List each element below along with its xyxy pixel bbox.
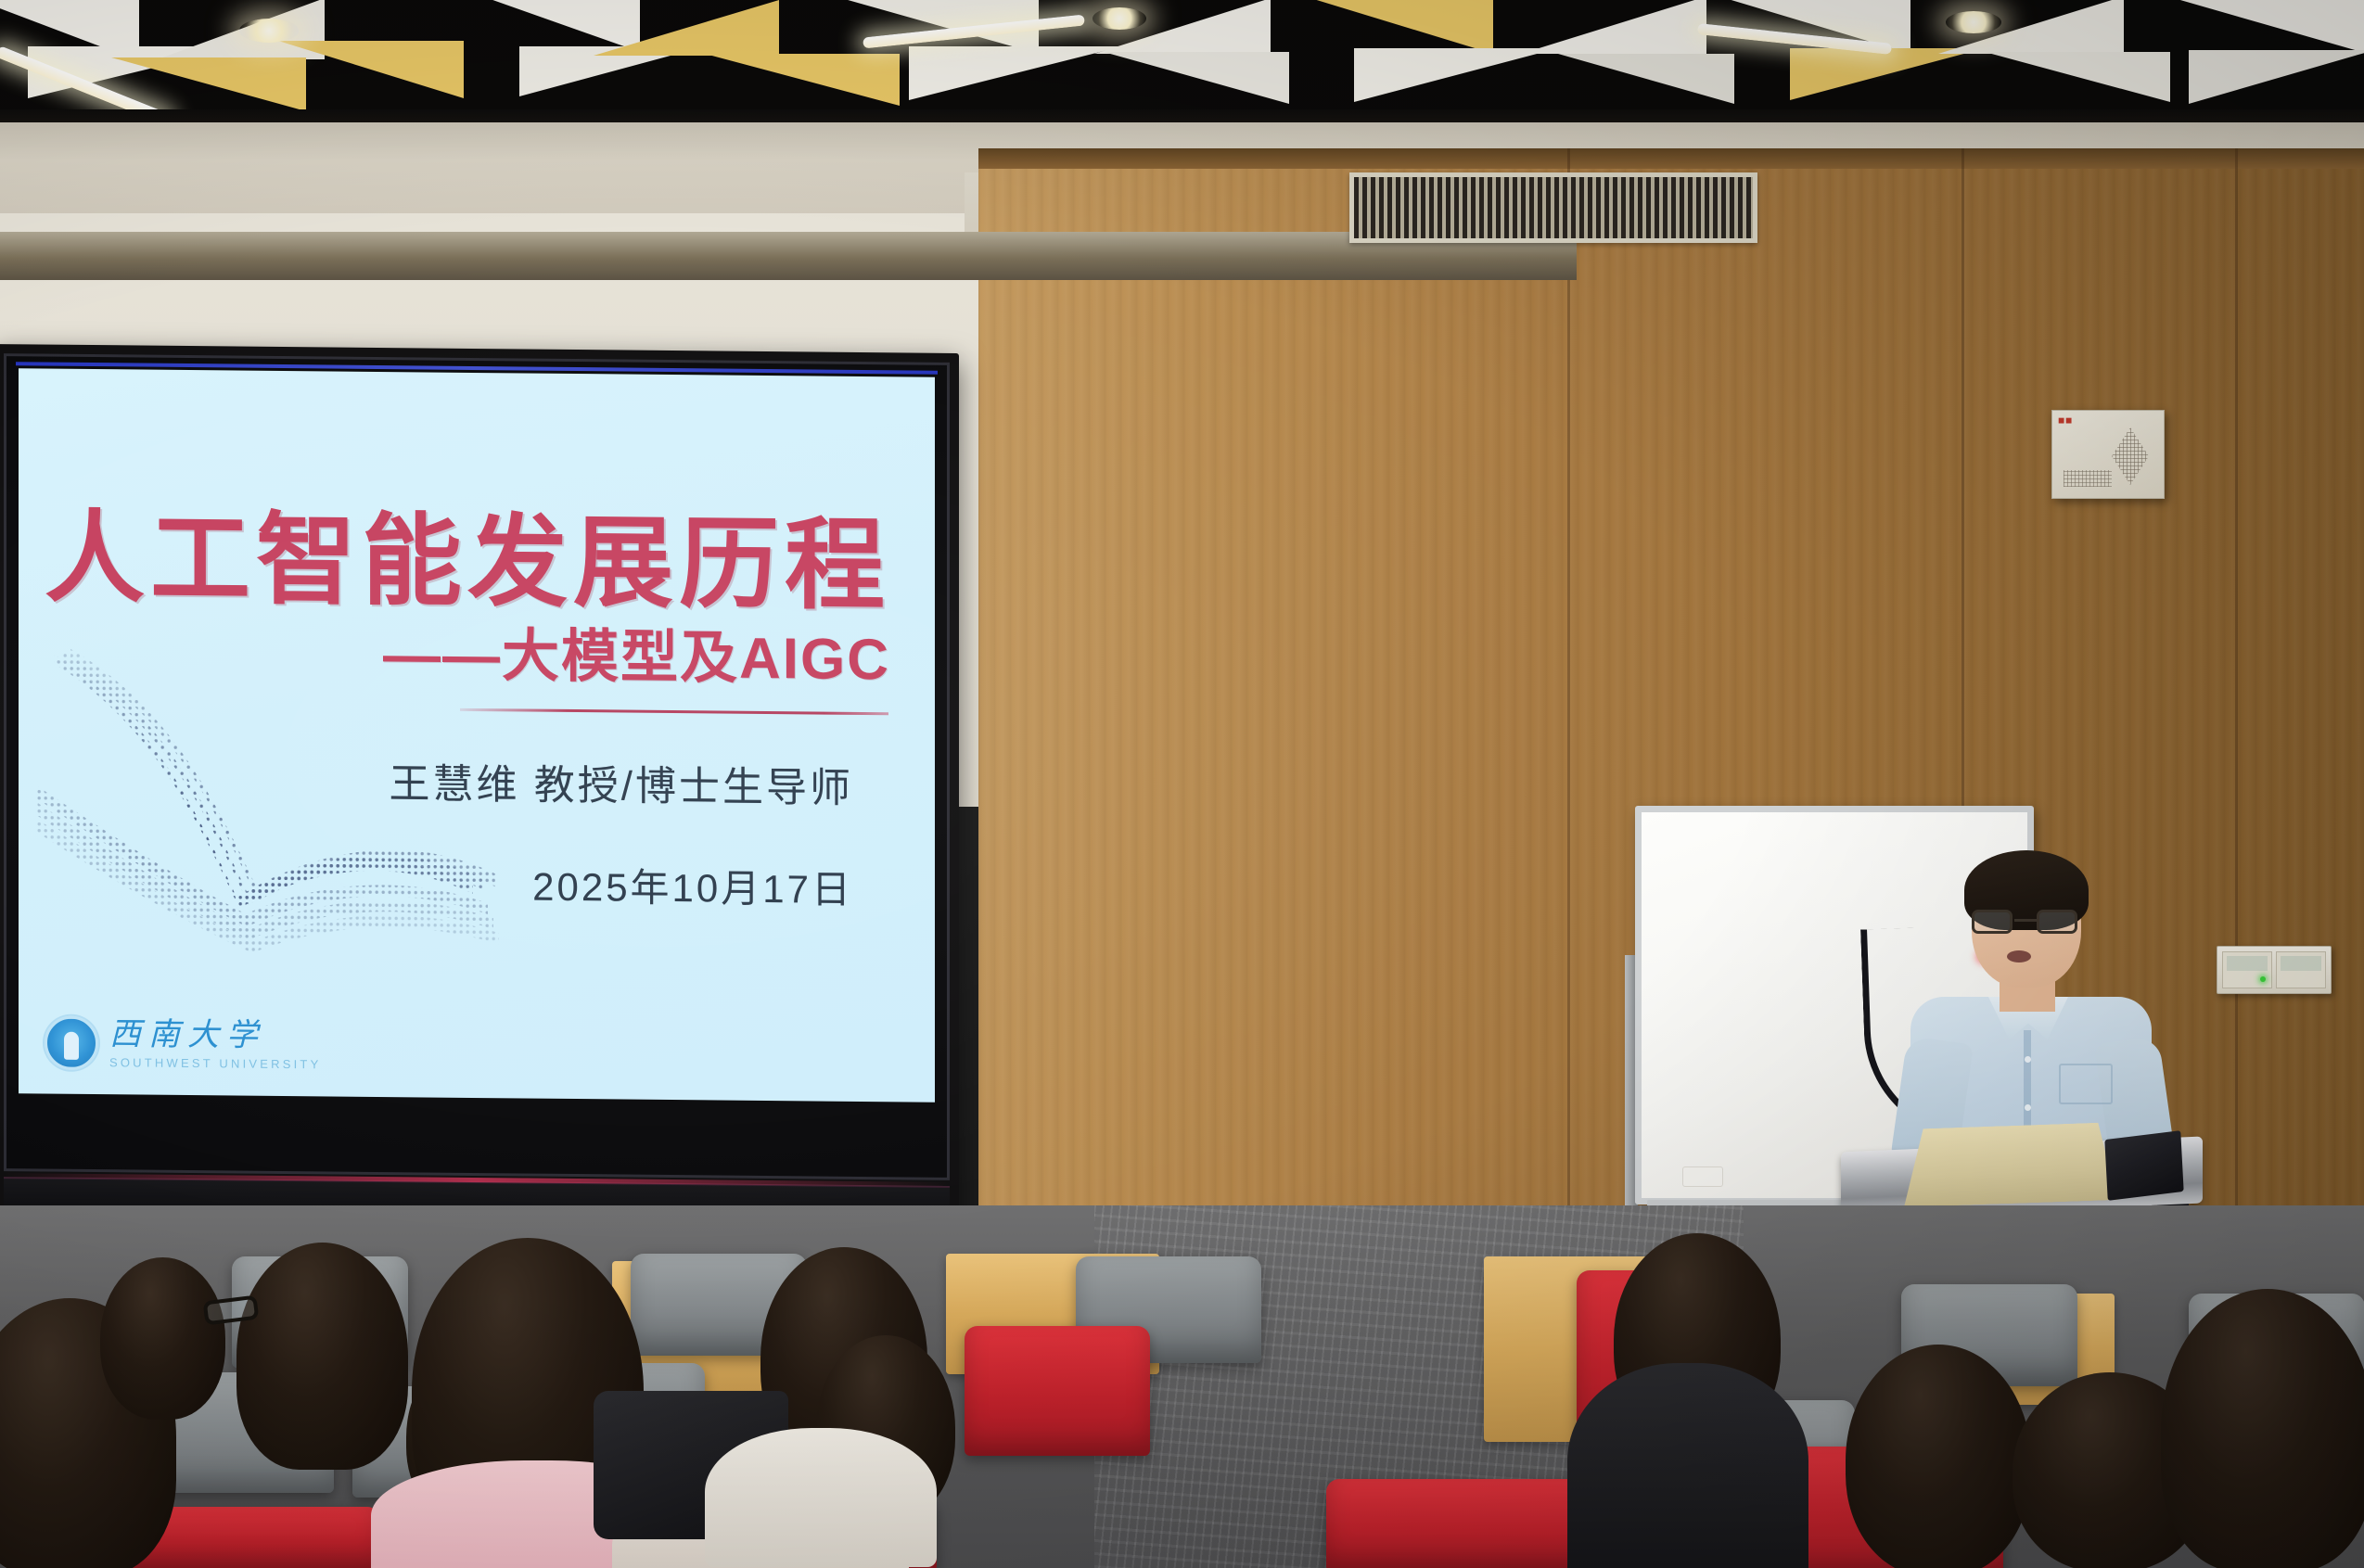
ceiling-soffit xyxy=(0,232,1577,280)
av-control-button[interactable] xyxy=(2222,951,2272,988)
ceiling-triangle-panel xyxy=(2161,0,2364,56)
audience-seat[interactable] xyxy=(965,1326,1150,1456)
ceiling-triangle-panel xyxy=(1790,48,1985,100)
presentation-display: 人工智能发展历程 ——大模型及AIGC 王慧维 教授/博士生导师 2025年10… xyxy=(0,344,959,1253)
wood-wall-seam xyxy=(2235,148,2238,1261)
ceiling-panel-grid xyxy=(0,0,2364,122)
presenter-shirt-button xyxy=(2025,1104,2031,1111)
hvac-vent-grille xyxy=(1354,177,1753,238)
audience-seat[interactable] xyxy=(1326,1479,1595,1568)
podium-desk-panel xyxy=(1904,1122,2117,1207)
wall-speaker-grille xyxy=(2112,427,2149,485)
ceiling-triangle-panel xyxy=(594,0,779,56)
presenter-shirt-button xyxy=(2025,1056,2031,1063)
ceiling-downlight xyxy=(1946,11,2001,33)
slide-subtitle: ——大模型及AIGC xyxy=(19,620,890,692)
ceiling-triangle-panel xyxy=(1354,48,1558,102)
ceiling-downlight xyxy=(239,19,299,43)
hvac-vent xyxy=(1349,172,1757,243)
slide-date: 2025年10月17日 xyxy=(19,850,853,915)
audience-person-shoulders xyxy=(1567,1363,1808,1568)
audience-person-shoulders xyxy=(705,1428,937,1567)
ceiling-triangle-panel xyxy=(705,54,900,106)
ceiling-triangle-panel xyxy=(278,41,464,98)
presenter-shirt-pocket xyxy=(2059,1064,2113,1104)
presentation-slide: 人工智能发展历程 ——大模型及AIGC 王慧维 教授/博士生导师 2025年10… xyxy=(19,368,935,1102)
ceiling-triangle-panel xyxy=(1104,52,1289,104)
podium-control-tablet[interactable] xyxy=(2104,1130,2183,1201)
university-seal-icon xyxy=(45,1016,98,1071)
av-control-plate[interactable] xyxy=(2217,946,2332,994)
ceiling-triangle-panel xyxy=(1558,54,1734,104)
presenter-mouth xyxy=(2007,950,2031,962)
display-bezel: 人工智能发展历程 ——大模型及AIGC 王慧维 教授/博士生导师 2025年10… xyxy=(4,353,950,1180)
wall-speaker-vent xyxy=(2064,470,2112,487)
whiteboard-eraser[interactable] xyxy=(1682,1166,1723,1187)
lecture-hall-photo: ◼◼ xyxy=(0,0,2364,1568)
presenter-glasses-icon xyxy=(1972,910,2081,934)
audience-person-head xyxy=(1846,1345,2031,1568)
ceiling-triangle-panel xyxy=(1521,0,1706,54)
slide-presenter: 王慧维 教授/博士生导师 xyxy=(19,746,853,814)
wood-wall-trim xyxy=(978,148,2364,169)
audience-person-head xyxy=(2161,1289,2364,1568)
ceiling-downlight xyxy=(1093,7,1146,30)
audience-person-head xyxy=(100,1257,225,1420)
ceiling-triangle-panel xyxy=(1985,52,2170,102)
wall-speaker-brand: ◼◼ xyxy=(2058,415,2073,426)
ceiling-triangle-panel xyxy=(909,46,1122,100)
slide-screen: 人工智能发展历程 ——大模型及AIGC 王慧维 教授/博士生导师 2025年10… xyxy=(19,368,935,1102)
university-name-cn: 西南大学 xyxy=(109,1019,321,1052)
audience-person-head xyxy=(236,1243,408,1470)
wall-speaker-panel: ◼◼ xyxy=(2051,410,2165,499)
wood-wall-seam xyxy=(1567,148,1570,1261)
ceiling-triangle-panel xyxy=(2189,50,2364,104)
slide-title: 人工智能发展历程 xyxy=(19,504,890,620)
av-control-button[interactable] xyxy=(2276,951,2326,988)
university-name-en: SOUTHWEST UNIVERSITY xyxy=(109,1056,321,1070)
ceiling-triangle-panel xyxy=(1298,0,1493,54)
university-logo: 西南大学 SOUTHWEST UNIVERSITY xyxy=(45,1016,321,1073)
